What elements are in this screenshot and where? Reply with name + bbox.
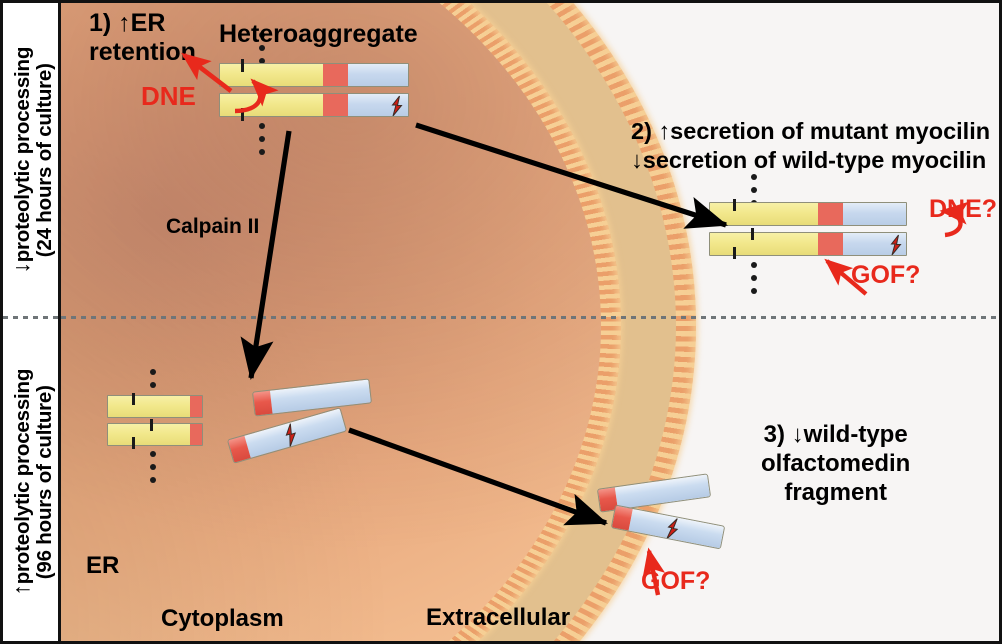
figure-root: ↓proteolytic processing (24 hours of cul…	[0, 0, 1002, 644]
axis-time-divider	[3, 316, 61, 319]
rod-segment-coiled-coil	[220, 94, 323, 116]
truncated-tick-bottom	[132, 437, 135, 449]
axis-label-bottom: ↑proteolytic processing (96 hours of cul…	[3, 317, 61, 644]
rod-segment-coiled-coil	[710, 233, 818, 255]
axis-label-top: ↓proteolytic processing (24 hours of cul…	[3, 3, 61, 317]
aggregate-tick-bottom	[241, 108, 244, 121]
arrow-fragment-secretion	[349, 430, 606, 523]
label-cytoplasm: Cytoplasm	[161, 605, 284, 633]
aggregate-dots-bottom	[259, 123, 265, 155]
mutation-bolt-icon	[386, 95, 408, 117]
rod-segment-olfactomedin	[843, 203, 906, 225]
label-dne: DNE	[141, 81, 196, 112]
secreted-tick-middle	[751, 228, 754, 240]
label-dne-question: DNE?	[929, 195, 997, 224]
rod-segment-olfactomedin	[843, 233, 906, 255]
down-arrow-icon: ↓	[8, 262, 34, 273]
myocilin-rod-mutant-secreted	[709, 232, 907, 256]
myocilin-rod-wildtype-top	[219, 63, 409, 87]
olfactomedin-fragment-mutant-extracellular	[611, 505, 726, 550]
axis-bottom-line2: (96 hours of culture)	[34, 369, 56, 596]
aggregate-tick-middle	[259, 89, 262, 101]
up-arrow-icon: ↑	[8, 584, 34, 595]
myocilin-truncated-rod-top	[107, 395, 203, 418]
label-heteroaggregate: Heteroaggregate	[219, 20, 418, 49]
olfactomedin-fragment-wildtype-cyto	[252, 378, 372, 416]
mutation-bolt-icon	[659, 515, 685, 543]
olfactomedin-fragment-mutant-cyto	[227, 407, 347, 464]
rod-segment-coiled-coil	[108, 396, 190, 417]
fragment-body	[614, 474, 710, 509]
rod-segment-coiled-coil	[710, 203, 818, 225]
axis-strip: ↓proteolytic processing (24 hours of cul…	[3, 3, 61, 641]
label-er-retention: 1) ↑ER retention	[89, 9, 196, 66]
truncated-tick-top	[132, 393, 135, 405]
axis-bottom-line1: proteolytic processing	[11, 369, 34, 584]
aggregate-tick-top	[241, 59, 244, 72]
label-olfactomedin-fragment: 3) ↓wild-type olfactomedin fragment	[761, 421, 910, 507]
rod-segment-linker	[323, 64, 347, 86]
label-secretion: 2) ↑secretion of mutant myocilin ↓secret…	[631, 117, 990, 174]
mutation-bolt-icon	[885, 234, 907, 256]
rod-segment-linker	[190, 396, 202, 417]
label-er: ER	[86, 552, 119, 580]
secreted-dots-bottom	[751, 262, 757, 294]
myocilin-truncated-rod-bottom	[107, 423, 203, 446]
rod-segment-linker	[190, 424, 202, 445]
rod-segment-coiled-coil	[220, 64, 323, 86]
rod-segment-coiled-coil	[108, 424, 190, 445]
rod-segment-olfactomedin	[348, 64, 408, 86]
label-gof-question-lower: GOF?	[641, 567, 710, 596]
rod-segment-linker	[818, 203, 843, 225]
arrow-overlay	[61, 3, 1002, 641]
axis-top-line1: proteolytic processing	[11, 47, 34, 262]
truncated-tick-middle	[150, 419, 153, 431]
time-divider	[61, 316, 1002, 319]
rod-segment-linker	[818, 233, 843, 255]
label-extracellular: Extracellular	[426, 604, 570, 632]
truncated-dots-bottom	[150, 451, 156, 483]
arrow-calpain-cleavage	[251, 131, 289, 378]
myocilin-rod-wildtype-secreted	[709, 202, 907, 226]
fragment-body	[270, 380, 371, 414]
rod-segment-linker	[323, 94, 347, 116]
mutation-bolt-icon	[277, 420, 305, 449]
label-calpain-ii: Calpain II	[166, 215, 259, 239]
secreted-tick-bottom	[733, 247, 736, 259]
rod-segment-olfactomedin	[348, 94, 408, 116]
diagram-stage: 1) ↑ER retention Heteroaggregate Calpain…	[61, 3, 1002, 641]
myocilin-rod-mutant-top	[219, 93, 409, 117]
fragment-body	[628, 509, 724, 548]
label-gof-question-upper: GOF?	[851, 261, 920, 290]
secreted-tick-top	[733, 199, 736, 211]
axis-top-line2: (24 hours of culture)	[34, 47, 56, 274]
